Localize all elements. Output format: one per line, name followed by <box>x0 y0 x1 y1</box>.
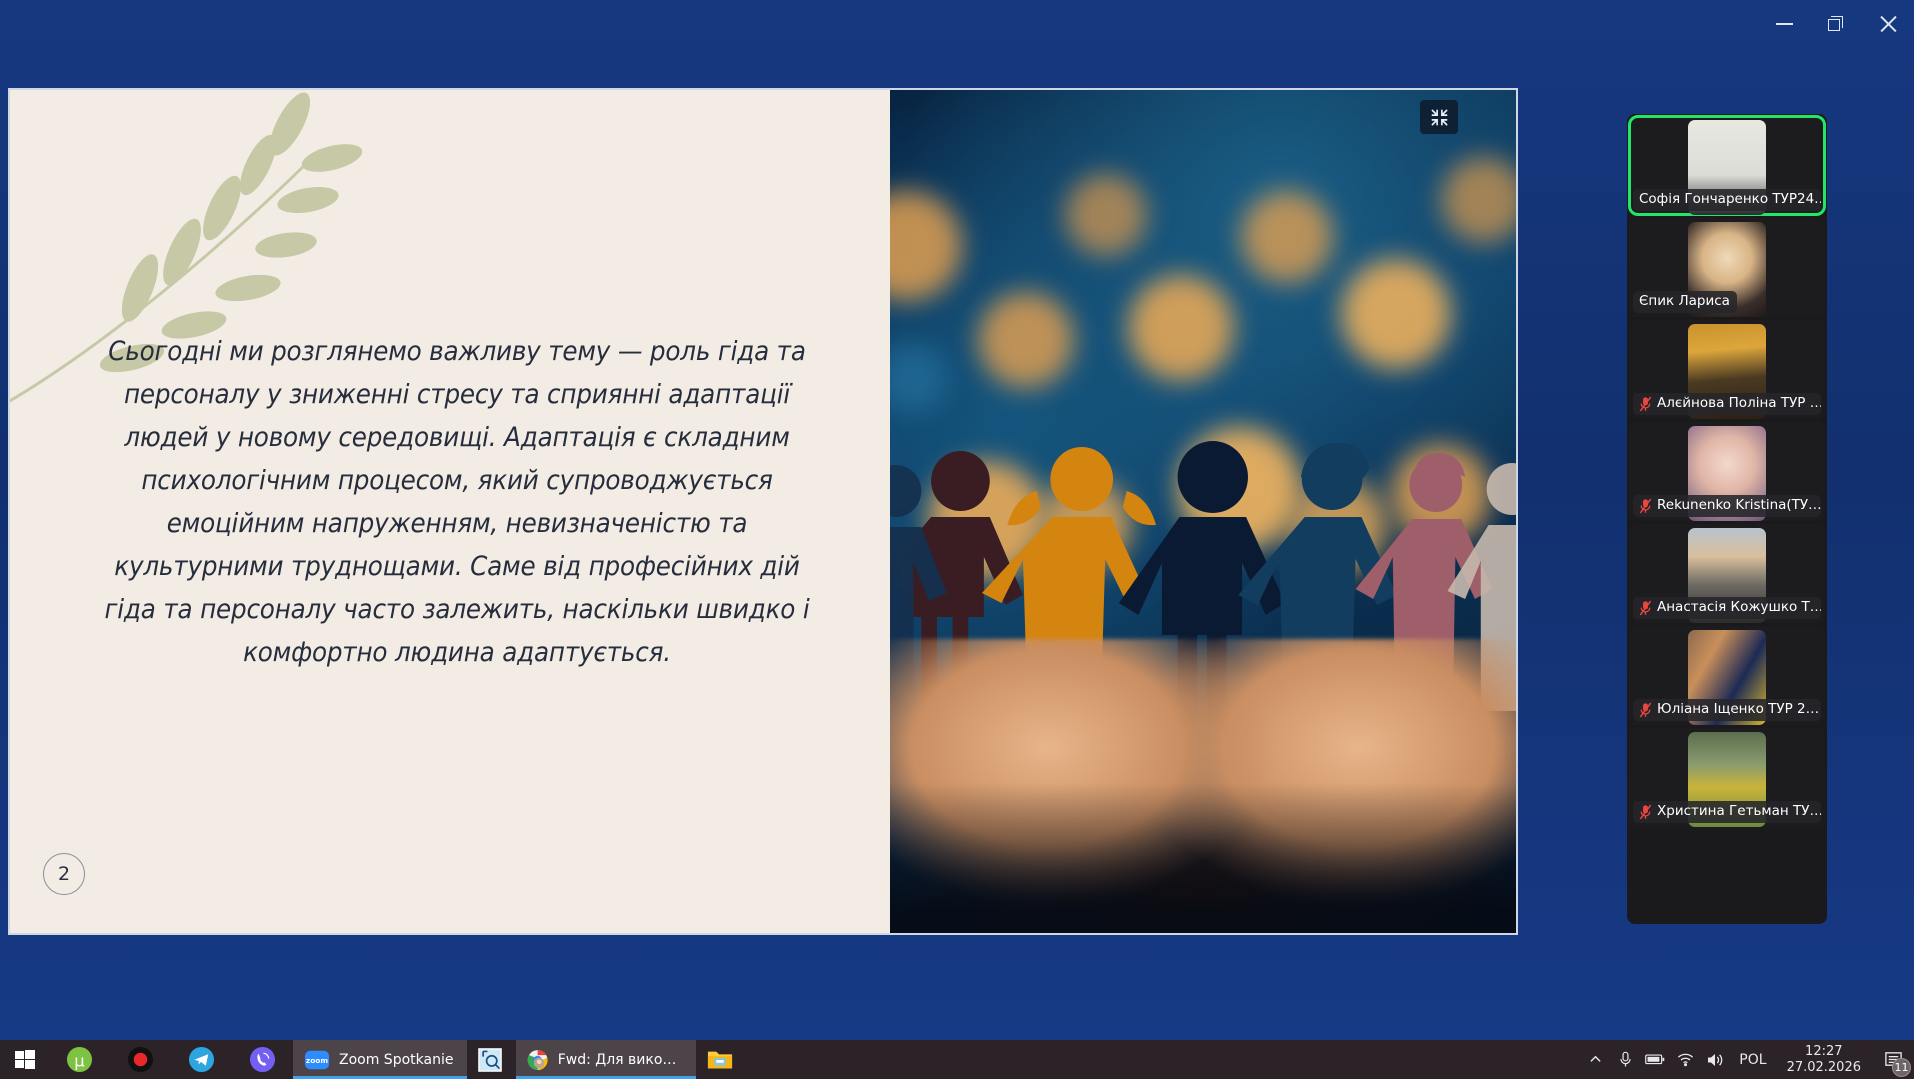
abbyy-screenshot-icon <box>478 1048 502 1072</box>
participant-tile[interactable]: Єпик Лариса <box>1629 218 1825 317</box>
participant-name: Софія Гончаренко ТУР24… <box>1639 191 1821 208</box>
participant-tile[interactable]: Анастасія Кожушко Т… <box>1629 524 1825 623</box>
slide-page-number: 2 <box>43 853 85 895</box>
clock-date: 27.02.2026 <box>1787 1060 1861 1076</box>
svg-text:µ: µ <box>74 1051 85 1070</box>
bokeh-light <box>1128 275 1234 381</box>
window-controls <box>1694 0 1914 48</box>
participant-name-badge: Софія Гончаренко ТУР24… <box>1633 189 1821 211</box>
clock[interactable]: 12:27 27.02.2026 <box>1776 1040 1872 1079</box>
chrome-icon <box>527 1047 548 1073</box>
bokeh-light <box>1441 157 1516 243</box>
bokeh-light <box>1065 174 1147 256</box>
mic-muted-icon <box>1639 702 1652 718</box>
windows-taskbar: µ zoom Zoom Spotkanie <box>0 1040 1914 1079</box>
file-explorer-icon <box>707 1048 733 1072</box>
participant-filmstrip[interactable]: Софія Гончаренко ТУР24… Єпик Лариса Алєй… <box>1627 114 1827 924</box>
mic-muted-icon <box>1639 498 1652 514</box>
participant-name: Rekunenko Kristina(ТУ… <box>1657 497 1821 514</box>
system-tray: POL 12:27 27.02.2026 11 <box>1580 1040 1914 1079</box>
participant-name-badge: Rekunenko Kristina(ТУ… <box>1633 495 1821 517</box>
wifi-icon[interactable] <box>1670 1040 1700 1079</box>
participant-name: Анастасія Кожушко Т… <box>1657 599 1821 616</box>
taskbar-task-chrome[interactable]: Fwd: Для використ… <box>516 1040 696 1079</box>
taskbar-task-screenshot-tool[interactable] <box>467 1040 516 1079</box>
slide-photo-panel <box>890 90 1516 933</box>
bokeh-light <box>890 191 962 301</box>
zoom-meeting-window: Сьогодні ми розглянемо важливу тему — ро… <box>0 0 1914 1040</box>
mic-muted-icon <box>1639 600 1652 616</box>
participant-tile[interactable]: Софія Гончаренко ТУР24… <box>1629 116 1825 215</box>
bokeh-light <box>1341 259 1451 369</box>
shared-screen-stage[interactable]: Сьогодні ми розглянемо важливу тему — ро… <box>8 88 1518 935</box>
utorrent-icon[interactable]: µ <box>49 1040 110 1079</box>
viber-icon[interactable] <box>232 1040 293 1079</box>
taskbar-task-label: Zoom Spotkanie <box>339 1052 453 1068</box>
minimize-button[interactable] <box>1758 3 1810 45</box>
participant-name-badge: Анастасія Кожушко Т… <box>1633 597 1821 619</box>
taskbar-task-label: Fwd: Для використ… <box>558 1052 683 1068</box>
participant-name-badge: Юліана Іщенко ТУР 2… <box>1633 699 1821 721</box>
windows-start-icon[interactable] <box>0 1040 49 1079</box>
language-indicator[interactable]: POL <box>1730 1040 1775 1079</box>
notification-count-badge: 11 <box>1892 1058 1911 1077</box>
bokeh-light <box>890 343 947 413</box>
participant-tile[interactable]: Алєйнова Поліна ТУР … <box>1629 320 1825 419</box>
participant-name: Юліана Іщенко ТУР 2… <box>1657 701 1819 718</box>
participant-tile[interactable]: Юліана Іщенко ТУР 2… <box>1629 626 1825 725</box>
participant-tile[interactable]: Христина Гетьман ТУ… <box>1629 728 1825 827</box>
photo-bottom-shadow <box>890 783 1516 933</box>
taskbar-task-zoom[interactable]: zoom Zoom Spotkanie <box>293 1040 467 1079</box>
volume-icon[interactable] <box>1700 1040 1730 1079</box>
taskbar-task-file-explorer[interactable] <box>696 1040 747 1079</box>
mic-muted-icon <box>1639 396 1652 412</box>
battery-icon[interactable] <box>1640 1040 1670 1079</box>
slide-body-text: Сьогодні ми розглянемо важливу тему — ро… <box>97 330 817 674</box>
participant-tile[interactable]: Rekunenko Kristina(ТУ… <box>1629 422 1825 521</box>
mic-muted-icon <box>1639 804 1652 820</box>
participant-name: Алєйнова Поліна ТУР … <box>1657 395 1821 412</box>
microphone-icon[interactable] <box>1610 1040 1640 1079</box>
participant-name-badge: Єпик Лариса <box>1633 291 1737 313</box>
notifications-button[interactable]: 11 <box>1872 1040 1914 1079</box>
participant-name-badge: Христина Гетьман ТУ… <box>1633 801 1821 823</box>
participant-name-badge: Алєйнова Поліна ТУР … <box>1633 393 1821 415</box>
close-button[interactable] <box>1862 3 1914 45</box>
bokeh-light <box>978 292 1074 388</box>
participant-name: Христина Гетьман ТУ… <box>1657 803 1821 820</box>
exit-fullscreen-icon[interactable] <box>1420 100 1458 134</box>
participant-name: Єпик Лариса <box>1639 293 1730 310</box>
zoom-icon: zoom <box>304 1047 330 1073</box>
show-hidden-icons-chevron-icon[interactable] <box>1580 1040 1610 1079</box>
slide-text-panel: Сьогодні ми розглянемо важливу тему — ро… <box>10 90 890 933</box>
bokeh-light <box>1241 191 1333 283</box>
telegram-icon[interactable] <box>171 1040 232 1079</box>
restore-button[interactable] <box>1810 3 1862 45</box>
clock-time: 12:27 <box>1805 1044 1842 1060</box>
svg-text:zoom: zoom <box>306 1055 328 1064</box>
screen-recorder-icon[interactable] <box>110 1040 171 1079</box>
